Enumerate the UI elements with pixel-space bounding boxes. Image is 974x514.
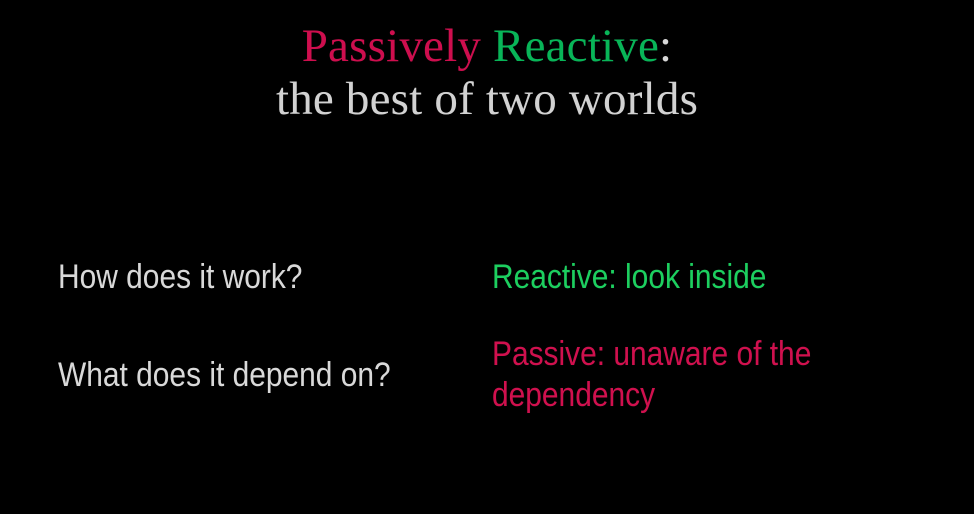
- title-line-subtitle: the best of two worlds: [0, 75, 974, 124]
- qa-answer-passive: Passive: unaware of the dependency: [492, 334, 862, 417]
- qa-grid: How does it work? Reactive: look inside …: [58, 222, 938, 417]
- title-space: [481, 20, 493, 72]
- title-colon: :: [659, 20, 672, 72]
- qa-question-how-does-it-work: How does it work?: [58, 257, 440, 298]
- title-line-primary: Passively Reactive:: [0, 22, 974, 71]
- title-word-reactive: Reactive: [493, 20, 659, 72]
- qa-question-what-does-it-depend-on: What does it depend on?: [58, 355, 440, 396]
- title-word-passively: Passively: [302, 20, 481, 72]
- qa-answer-reactive: Reactive: look inside: [492, 257, 862, 298]
- slide-title: Passively Reactive: the best of two worl…: [0, 22, 974, 124]
- slide-canvas: Passively Reactive: the best of two worl…: [0, 0, 974, 514]
